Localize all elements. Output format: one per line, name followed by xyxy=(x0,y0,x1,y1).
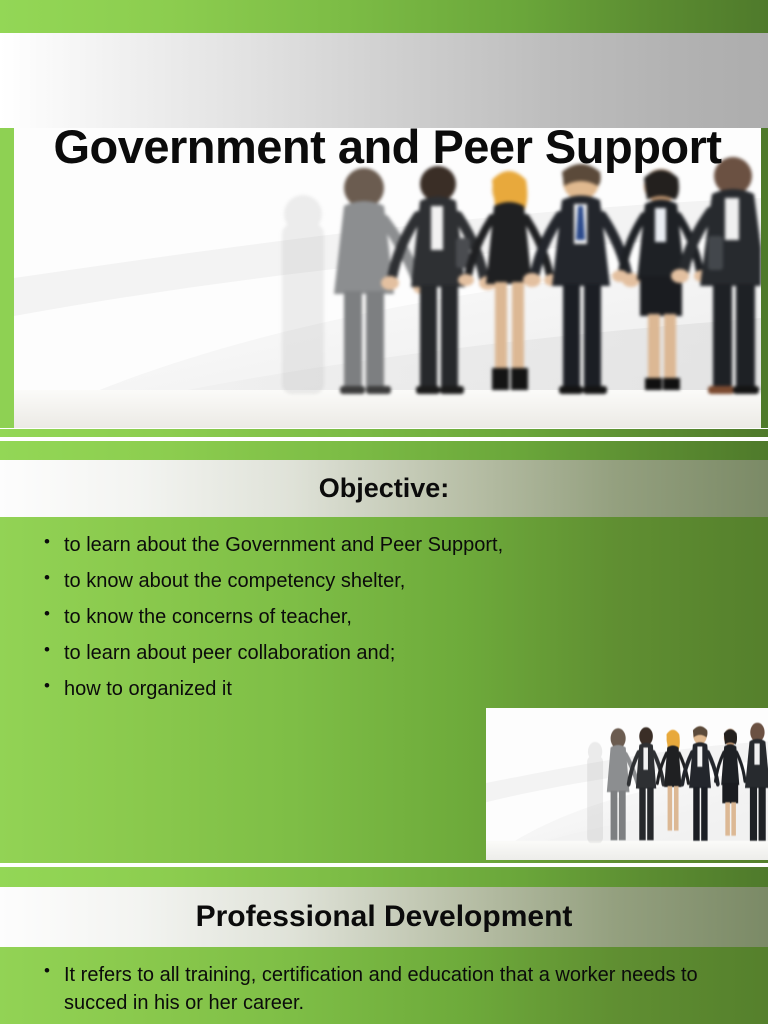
slide1-gray-header-strip xyxy=(0,33,768,128)
slide1-bottom-green-band xyxy=(0,429,768,437)
slide1-top-green-band xyxy=(0,0,768,33)
list-item: It refers to all training, certification… xyxy=(44,961,704,1018)
people-holding-hands-illustration-small xyxy=(486,708,768,860)
list-item: to learn about peer collaboration and; xyxy=(44,643,768,663)
professional-development-heading: Professional Development xyxy=(0,887,768,947)
objective-slide: Objective: to learn about the Government… xyxy=(0,441,768,863)
slide-deck: Government and Peer Support Objective: t… xyxy=(0,0,768,1024)
list-item: how to organized it xyxy=(44,679,768,699)
list-item: to know the concerns of teacher, xyxy=(44,607,768,627)
professional-development-bullet-list: It refers to all training, certification… xyxy=(0,947,768,1018)
objective-bullet-list: to learn about the Government and Peer S… xyxy=(0,517,768,699)
professional-development-slide: Professional Development It refers to al… xyxy=(0,867,768,1024)
objective-heading: Objective: xyxy=(0,460,768,517)
slide2-top-green-band xyxy=(0,441,768,460)
list-item: to know about the competency shelter, xyxy=(44,571,768,591)
slide1-left-green-edge xyxy=(0,128,14,428)
objective-slide-photo xyxy=(486,708,768,860)
title-slide: Government and Peer Support xyxy=(0,0,768,437)
professional-development-body: It refers to all training, certification… xyxy=(0,947,768,1024)
slide3-top-green-band xyxy=(0,867,768,887)
slide1-right-green-edge xyxy=(761,128,768,428)
page-title: Government and Peer Support xyxy=(14,118,761,177)
list-item: to learn about the Government and Peer S… xyxy=(44,535,768,555)
